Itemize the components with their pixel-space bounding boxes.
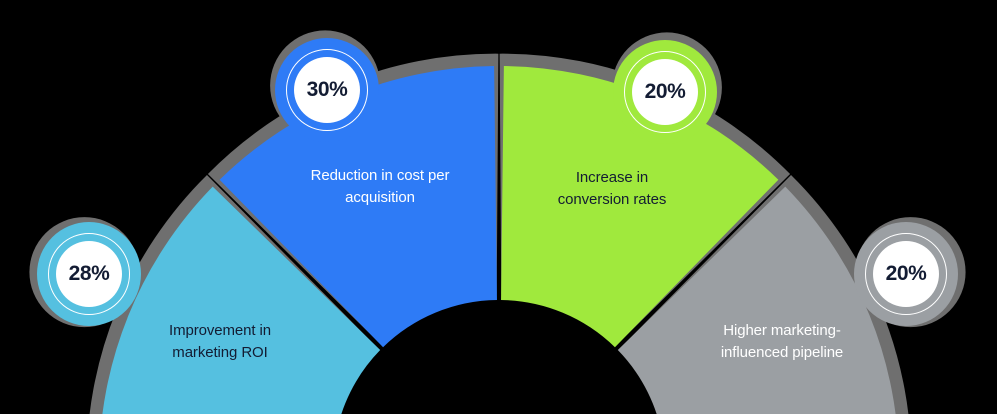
badge-improvement-marketing-roi[interactable]: 28% [37,222,141,326]
infographic-canvas: Improvement in marketing ROIReduction in… [0,0,997,414]
badge-value-improvement-marketing-roi: 28% [69,262,110,286]
badge-higher-marketing-influenced-pipeline[interactable]: 20% [854,222,958,326]
badge-value-increase-conversion-rates: 20% [645,80,686,104]
badge-inner-disc-increase-conversion-rates: 20% [632,59,698,125]
badge-increase-conversion-rates[interactable]: 20% [613,40,717,144]
badge-value-higher-marketing-influenced-pipeline: 20% [886,262,927,286]
badge-inner-disc-reduction-cost-per-acquisition: 30% [294,57,360,123]
badge-inner-disc-improvement-marketing-roi: 28% [56,241,122,307]
badge-reduction-cost-per-acquisition[interactable]: 30% [275,38,379,142]
arc-chart-svg [0,0,997,414]
badge-value-reduction-cost-per-acquisition: 30% [307,78,348,102]
badge-inner-disc-higher-marketing-influenced-pipeline: 20% [873,241,939,307]
